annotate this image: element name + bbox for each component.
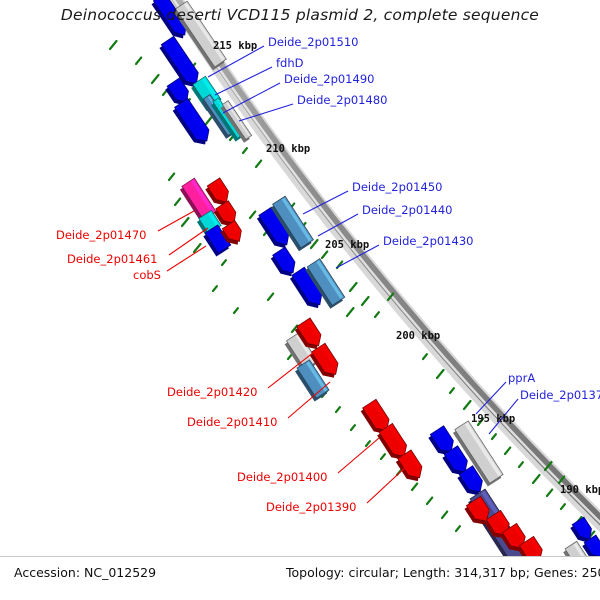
genome-map-viewer: Deide_2p01510fdhDDeide_2p01490Deide_2p01… — [0, 0, 600, 600]
label-leader-line — [167, 246, 206, 271]
gene-label[interactable]: Deide_2p01440 — [362, 203, 452, 217]
gc-tick-mark — [450, 388, 454, 393]
gc-tick-mark — [152, 75, 159, 83]
gc-tick-mark — [437, 370, 444, 378]
gene-label[interactable]: Deide_2p01390 — [266, 500, 356, 514]
gc-tick-mark — [423, 354, 427, 359]
gc-tick-mark — [336, 407, 340, 412]
gene-label[interactable]: cobS — [133, 268, 161, 282]
gc-tick-mark — [561, 504, 565, 509]
gene-label[interactable]: Deide_2p01430 — [383, 234, 473, 248]
gc-tick-mark — [182, 218, 189, 226]
gc-tick-mark — [366, 441, 370, 446]
gc-tick-mark — [222, 260, 226, 265]
gc-tick-mark — [519, 462, 523, 467]
gc-tick-mark — [243, 148, 247, 153]
gene-label[interactable]: Deide_2p01510 — [268, 35, 358, 49]
gc-tick-mark — [464, 401, 471, 409]
gene-label[interactable]: Deide_2p01470 — [56, 228, 146, 242]
gc-tick-mark — [533, 475, 540, 483]
gene-label[interactable]: Deide_2p01480 — [297, 93, 387, 107]
gc-tick-mark — [256, 161, 261, 167]
gc-tick-mark — [268, 294, 273, 300]
gene-label[interactable]: Deide_2p01370 — [520, 388, 600, 402]
label-leader-line — [169, 228, 208, 255]
gc-tick-mark — [288, 354, 292, 359]
gc-tick-mark — [492, 434, 496, 439]
genome-backbone — [149, 0, 600, 560]
gene-label[interactable]: fdhD — [276, 56, 304, 70]
footer-divider — [0, 556, 600, 557]
gc-tick-mark — [136, 58, 141, 64]
gc-tick-mark — [362, 297, 369, 305]
gene-label[interactable]: Deide_2p01450 — [352, 180, 442, 194]
gc-tick-mark — [213, 286, 217, 291]
scale-tick-label: 190 kbp — [560, 484, 600, 496]
gc-tick-mark — [311, 240, 318, 248]
gc-tick-mark — [175, 199, 180, 205]
gc-tick-mark — [375, 312, 379, 317]
gene-label[interactable]: Deide_2p01420 — [167, 385, 257, 399]
gc-tick-mark — [351, 425, 355, 430]
gc-tick-mark — [547, 490, 552, 496]
gene-label[interactable]: Deide_2p01461 — [67, 252, 157, 266]
gc-tick-mark — [322, 252, 327, 258]
gc-tick-mark — [427, 498, 432, 504]
gc-tick-mark — [505, 448, 510, 454]
gc-tick-mark — [110, 41, 117, 49]
scale-tick-label: 210 kbp — [266, 143, 310, 155]
gene-label[interactable]: Deide_2p01410 — [187, 415, 277, 429]
gene-label[interactable]: pprA — [508, 371, 535, 385]
scale-tick-label: 205 kbp — [325, 239, 369, 251]
gc-tick-mark — [442, 512, 447, 518]
gc-tick-mark — [234, 308, 238, 313]
gc-tick-mark — [250, 212, 255, 218]
label-leader-line — [367, 464, 409, 503]
accession-text: Accession: NC_012529 — [14, 565, 156, 580]
gc-tick-mark — [347, 308, 354, 316]
gc-tick-mark — [412, 484, 417, 490]
gc-tick-mark — [381, 454, 385, 459]
label-leader-line — [338, 438, 379, 473]
gc-tick-mark — [350, 283, 357, 291]
scale-tick-label: 200 kbp — [396, 330, 440, 342]
topology-text: Topology: circular; Length: 314,317 bp; … — [286, 565, 600, 580]
page-title: Deinococcus deserti VCD115 plasmid 2, co… — [0, 6, 600, 24]
gc-tick-mark — [206, 116, 213, 124]
gc-tick-mark — [456, 526, 460, 531]
scale-tick-label: 215 kbp — [213, 40, 257, 52]
label-leader-line — [158, 211, 194, 231]
scale-tick-label: 195 kbp — [471, 413, 515, 425]
gc-tick-mark — [169, 174, 174, 180]
gene-label[interactable]: Deide_2p01490 — [284, 72, 374, 86]
gene-label[interactable]: Deide_2p01400 — [237, 470, 327, 484]
